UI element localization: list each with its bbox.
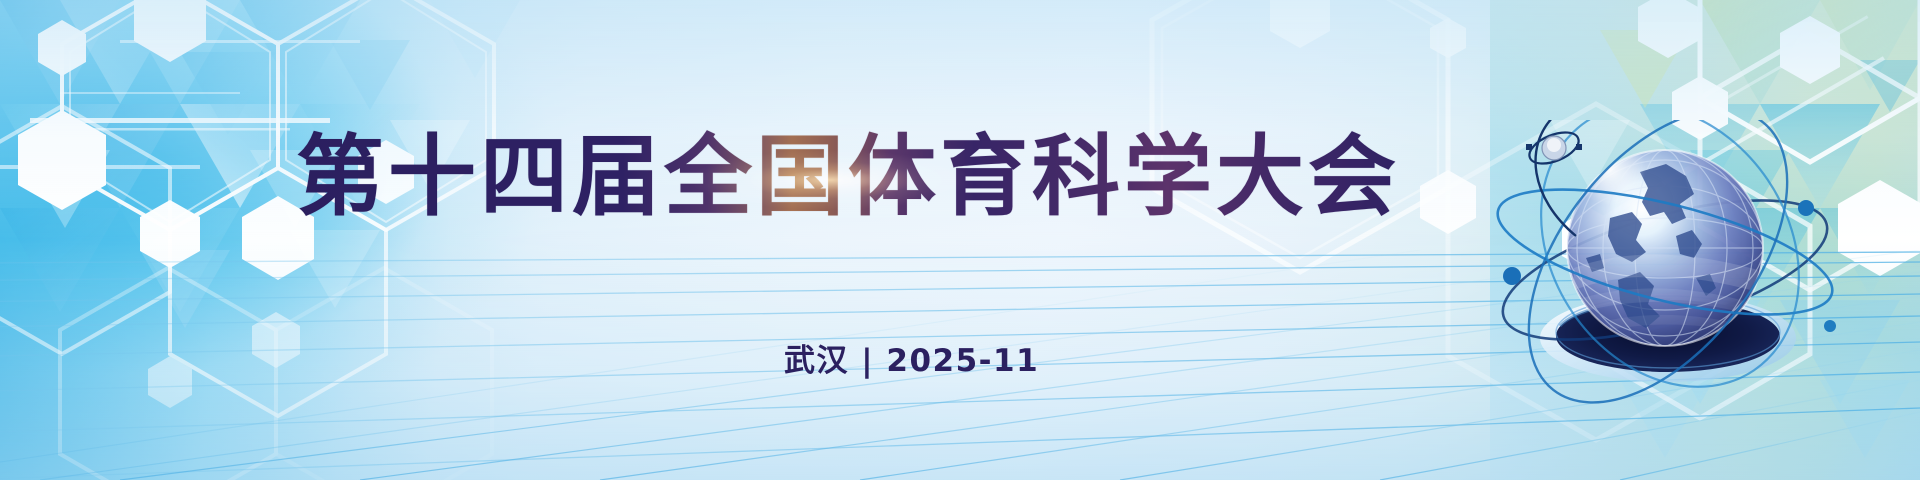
crystal-globe-graphic <box>1490 120 1840 420</box>
page-title: 第十四届全国体育科学大会 <box>296 128 1506 226</box>
banner-title-wrap: 第十四届全国体育科学大会 <box>296 128 1506 228</box>
conference-banner: 第十四届全国体育科学大会 武汉 | 2025-11 <box>0 0 1920 480</box>
banner-subtitle: 武汉 | 2025-11 <box>784 344 1039 378</box>
